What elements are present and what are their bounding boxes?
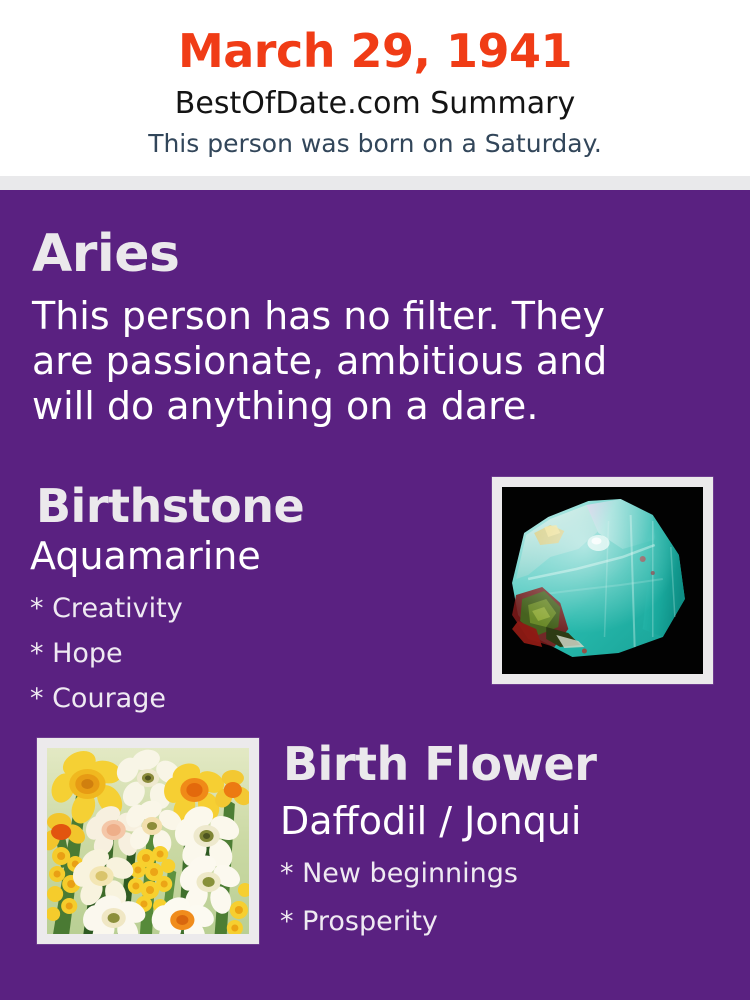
site-summary-label: BestOfDate.com Summary bbox=[0, 86, 750, 122]
birthstone-image-frame bbox=[492, 477, 713, 684]
birth-flower-name: Daffodil / Jonqui bbox=[280, 798, 581, 844]
zodiac-sign-heading: Aries bbox=[32, 224, 179, 284]
list-item: * Creativity bbox=[30, 586, 460, 631]
card-header: March 29, 1941 BestOfDate.com Summary Th… bbox=[0, 0, 750, 176]
aquamarine-crystal-icon bbox=[502, 487, 703, 674]
birthstone-image bbox=[502, 487, 703, 674]
zodiac-description: This person has no filter. They are pass… bbox=[32, 294, 652, 429]
header-divider bbox=[0, 176, 750, 190]
list-item: * Prosperity bbox=[280, 898, 710, 946]
daffodil-field-icon bbox=[47, 748, 249, 934]
bestofdate-summary-card: March 29, 1941 BestOfDate.com Summary Th… bbox=[0, 0, 750, 1000]
list-item: * Courage bbox=[30, 676, 460, 721]
birthstone-name: Aquamarine bbox=[30, 533, 261, 579]
birth-flower-image-frame bbox=[37, 738, 259, 944]
birthstone-heading: Birthstone bbox=[36, 478, 304, 534]
list-item: * New beginnings bbox=[280, 850, 710, 898]
page-title-date: March 29, 1941 bbox=[0, 24, 750, 78]
birth-flower-image bbox=[47, 748, 249, 934]
birth-flower-traits-list: * New beginnings * Prosperity bbox=[280, 850, 710, 946]
birth-day-note: This person was born on a Saturday. bbox=[0, 128, 750, 160]
birthstone-traits-list: * Creativity * Hope * Courage bbox=[30, 586, 460, 721]
list-item: * Hope bbox=[30, 631, 460, 676]
birth-flower-heading: Birth Flower bbox=[283, 736, 596, 792]
